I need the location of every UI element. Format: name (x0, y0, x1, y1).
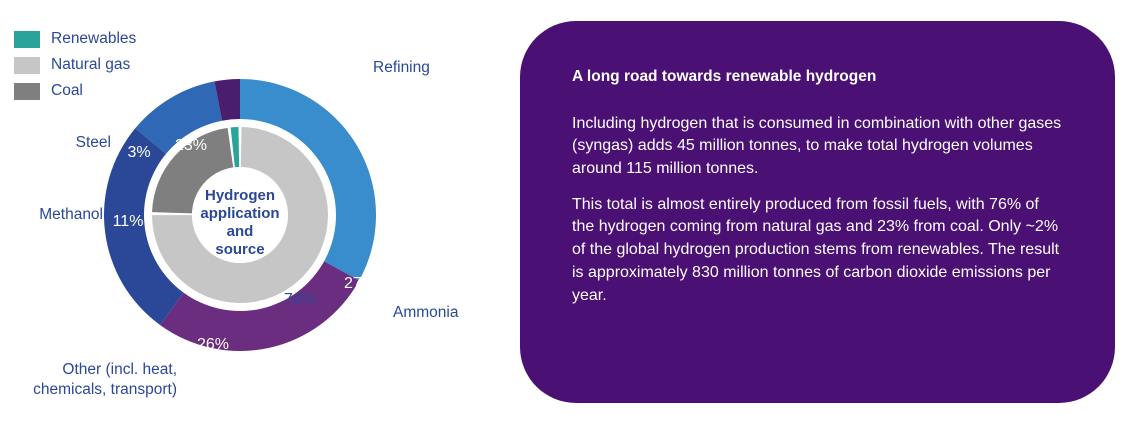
donut-chart: 33% 27% 26% 11% 3% 76% 23% Refining Ammo… (0, 0, 500, 423)
center-title-line-3: and (227, 223, 254, 240)
value-label-methanol: 11% (113, 213, 144, 230)
category-label-steel: Steel (76, 134, 111, 151)
value-label-ammonia: 27% (344, 275, 376, 292)
value-label-other: 26% (197, 336, 229, 353)
category-label-other-line1: Other (incl. heat, (62, 361, 177, 378)
category-label-methanol: Methanol (39, 206, 103, 223)
donut-chart-svg: 33% 27% 26% 11% 3% 76% 23% Refining Ammo… (0, 0, 500, 423)
category-label-refining: Refining (373, 59, 430, 76)
info-panel-paragraph-1: Including hydrogen that is consumed in c… (572, 113, 1063, 181)
category-label-other-line2: chemicals, transport) (33, 381, 177, 398)
center-title-line-4: source (215, 241, 264, 258)
center-title-line-1: Hydrogen (205, 187, 275, 204)
value-label-coal: 23% (175, 137, 207, 154)
value-label-natural-gas: 76% (284, 291, 316, 308)
value-label-refining: 33% (268, 65, 300, 82)
center-title-line-2: application (200, 205, 279, 222)
info-panel: A long road towards renewable hydrogen I… (520, 21, 1115, 403)
value-label-steel: 3% (127, 144, 150, 161)
category-label-ammonia: Ammonia (393, 304, 459, 321)
info-panel-paragraph-2: This total is almost entirely produced f… (572, 194, 1063, 308)
info-panel-heading: A long road towards renewable hydrogen (572, 68, 1063, 87)
